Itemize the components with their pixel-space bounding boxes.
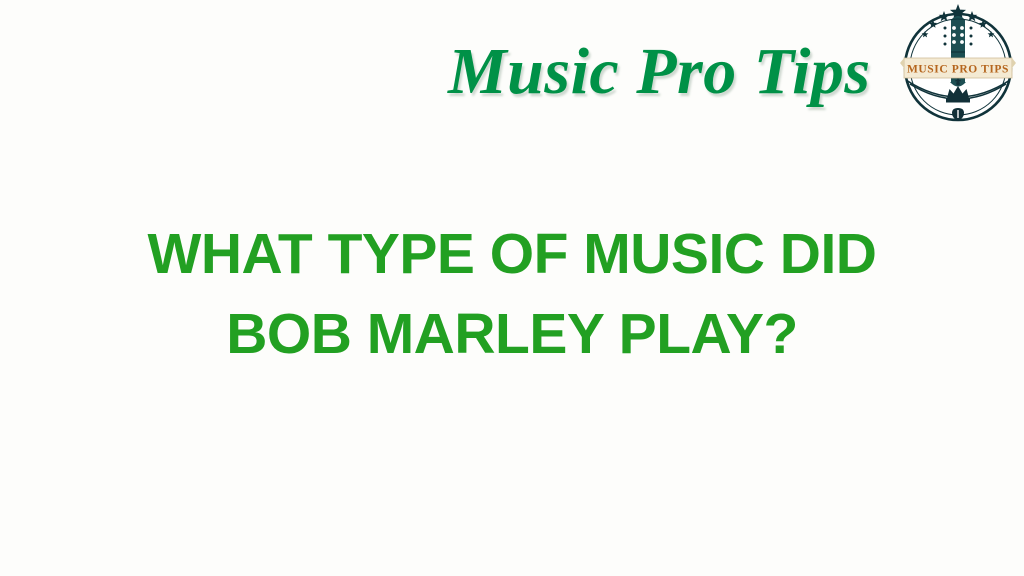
- badge-banner-text: MUSIC PRO TIPS: [907, 64, 1009, 76]
- brand-header: Music Pro Tips: [0, 0, 1024, 140]
- music-pro-tips-badge-icon: MUSIC PRO TIPS: [900, 2, 1022, 134]
- brand-wordmark: Music Pro Tips: [448, 28, 876, 116]
- badge-banner: MUSIC PRO TIPS: [900, 58, 1016, 78]
- brand-logo: MUSIC PRO TIPS: [900, 2, 1022, 134]
- slide-canvas: Music Pro Tips: [0, 0, 1024, 576]
- page-title-line-1: WHAT TYPE OF MUSIC DID: [0, 214, 1024, 294]
- content-body-area: [0, 340, 1024, 576]
